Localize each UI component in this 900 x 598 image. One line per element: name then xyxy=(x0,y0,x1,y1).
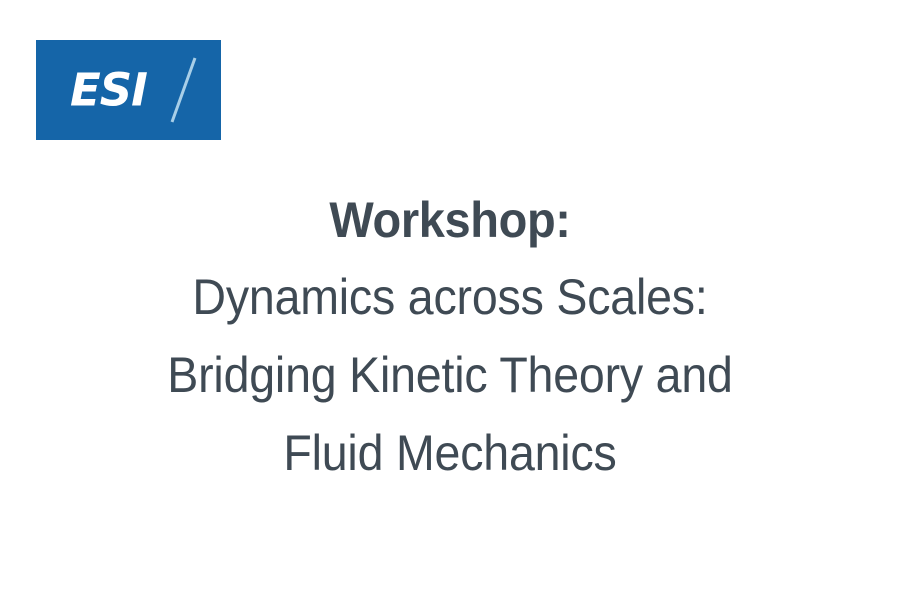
title-line-workshop: Workshop: xyxy=(27,182,873,258)
title-line-dynamics-across-scales: Dynamics across Scales: xyxy=(32,258,869,336)
esi-slash-icon xyxy=(167,56,201,124)
esi-logo: ESI xyxy=(36,40,221,140)
title-line-fluid-mechanics: Fluid Mechanics xyxy=(32,414,869,492)
page-title: Workshop: Dynamics across Scales: Bridgi… xyxy=(0,182,900,492)
esi-wordmark-text: ESI xyxy=(70,68,147,113)
title-slide: ESI Workshop: Dynamics across Scales: Br… xyxy=(0,0,900,598)
title-line-bridging-kinetic-theory: Bridging Kinetic Theory and xyxy=(32,336,869,414)
